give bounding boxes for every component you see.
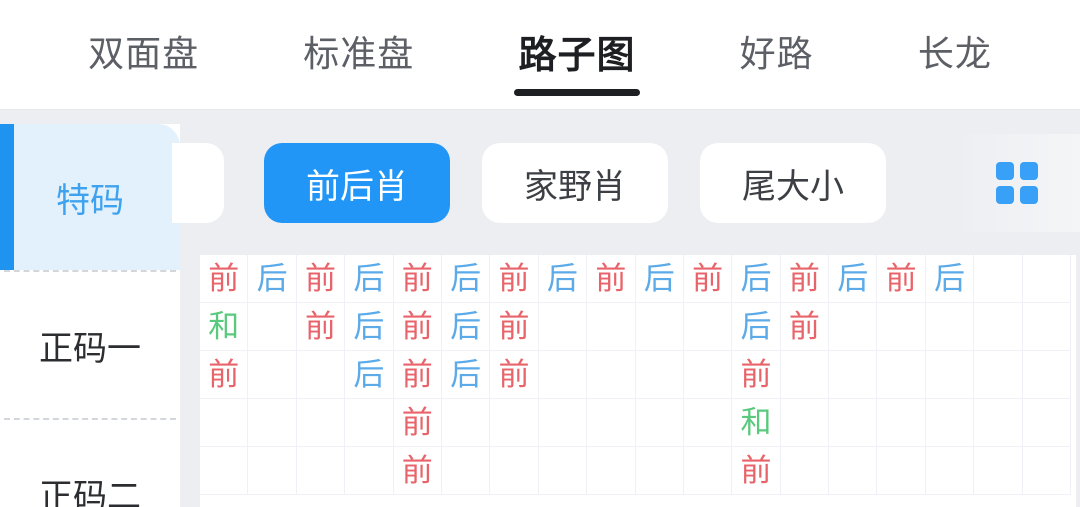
top-tab-0[interactable]: 双面盘 bbox=[82, 0, 205, 102]
roadmap-cell-filled: 前 bbox=[394, 351, 442, 399]
roadmap-cell-filled: 后 bbox=[345, 351, 393, 399]
roadmap-cell-empty bbox=[1023, 399, 1071, 447]
grid-view-button[interactable] bbox=[954, 134, 1080, 232]
top-tab-bar: 双面盘标准盘路子图好路长龙 bbox=[0, 0, 1080, 110]
roadmap-cell-empty bbox=[636, 303, 684, 351]
grid-square-3 bbox=[996, 186, 1014, 204]
roadmap-row: 前后前后前前 bbox=[200, 351, 1076, 399]
roadmap-cell-empty bbox=[490, 447, 538, 495]
roadmap-cell-empty bbox=[587, 303, 635, 351]
roadmap-cell-empty bbox=[877, 303, 925, 351]
roadmap-cell-filled: 后 bbox=[829, 255, 877, 303]
roadmap-cell-empty bbox=[926, 447, 974, 495]
roadmap-cell-empty bbox=[297, 447, 345, 495]
roadmap-cell-empty bbox=[829, 351, 877, 399]
roadmap-cell-empty bbox=[1023, 303, 1071, 351]
filter-chip-row: 前后肖家野肖尾大小 bbox=[180, 134, 1080, 232]
roadmap-cell-filled: 前 bbox=[877, 255, 925, 303]
roadmap-cell-filled: 前 bbox=[732, 447, 780, 495]
top-tab-3[interactable]: 好路 bbox=[734, 0, 820, 102]
roadmap-cell-empty bbox=[636, 351, 684, 399]
roadmap-cell-filled: 前 bbox=[297, 303, 345, 351]
roadmap-cell-empty bbox=[587, 351, 635, 399]
roadmap-row: 前前 bbox=[200, 447, 1076, 495]
roadmap-cell-empty bbox=[926, 351, 974, 399]
top-tab-2[interactable]: 路子图 bbox=[512, 0, 641, 102]
roadmap-cell-empty bbox=[442, 399, 490, 447]
roadmap-cell-empty bbox=[877, 351, 925, 399]
roadmap-cell-empty bbox=[1023, 255, 1071, 303]
roadmap-cell-empty bbox=[684, 351, 732, 399]
roadmap-cell-empty bbox=[974, 351, 1022, 399]
sidebar-item-2[interactable]: 正码二 bbox=[0, 420, 180, 507]
sidebar-top-gap bbox=[0, 110, 180, 124]
roadmap-cell-filled: 前 bbox=[394, 399, 442, 447]
roadmap-cell-filled: 后 bbox=[442, 255, 490, 303]
roadmap-cell-empty bbox=[636, 447, 684, 495]
roadmap-cell-filled: 前 bbox=[490, 351, 538, 399]
grid-square-1 bbox=[996, 162, 1014, 180]
roadmap-cell-empty bbox=[248, 399, 296, 447]
roadmap-cell-filled: 和 bbox=[732, 399, 780, 447]
roadmap-cell-empty bbox=[781, 447, 829, 495]
roadmap-cell-empty bbox=[781, 351, 829, 399]
roadmap-cell-empty bbox=[200, 399, 248, 447]
roadmap-cell-empty bbox=[829, 447, 877, 495]
roadmap-cell-empty bbox=[490, 399, 538, 447]
roadmap-cell-filled: 前 bbox=[781, 255, 829, 303]
roadmap-cell-empty bbox=[829, 303, 877, 351]
sidebar-item-label: 正码二 bbox=[39, 469, 141, 507]
roadmap-cell-filled: 后 bbox=[345, 303, 393, 351]
roadmap-cell-filled: 后 bbox=[248, 255, 296, 303]
content-panel: 前后肖家野肖尾大小 前后前后前后前后前后前后前后前后和前后前后前后前前后前后前前… bbox=[180, 110, 1080, 507]
roadmap-cell-empty bbox=[297, 351, 345, 399]
roadmap-cell-empty bbox=[248, 351, 296, 399]
roadmap-cell-filled: 前 bbox=[394, 303, 442, 351]
roadmap-grid[interactable]: 前后前后前后前后前后前后前后前后和前后前后前后前前后前后前前前和前前 bbox=[200, 255, 1076, 507]
roadmap-cell-filled: 后 bbox=[732, 255, 780, 303]
top-tab-4[interactable]: 长龙 bbox=[912, 0, 998, 102]
sidebar-active-accent bbox=[0, 124, 14, 270]
roadmap-cell-empty bbox=[781, 399, 829, 447]
filter-chip-1[interactable]: 家野肖 bbox=[482, 143, 668, 223]
filter-chip-2[interactable]: 尾大小 bbox=[700, 143, 886, 223]
roadmap-cell-empty bbox=[539, 303, 587, 351]
top-tab-1[interactable]: 标准盘 bbox=[297, 0, 420, 102]
top-tab-label: 标准盘 bbox=[303, 25, 414, 77]
roadmap-cell-filled: 和 bbox=[200, 303, 248, 351]
active-tab-underline bbox=[514, 89, 640, 96]
roadmap-row: 前和 bbox=[200, 399, 1076, 447]
sidebar-item-list: 特码正码一正码二 bbox=[0, 124, 180, 507]
filter-chip-partial[interactable] bbox=[172, 143, 224, 223]
roadmap-cell-empty bbox=[684, 447, 732, 495]
sidebar-item-label: 特码 bbox=[56, 173, 124, 222]
roadmap-cell-empty bbox=[539, 351, 587, 399]
top-tab-label: 长龙 bbox=[918, 25, 992, 77]
roadmap-cell-filled: 前 bbox=[490, 303, 538, 351]
top-tab-label: 好路 bbox=[740, 25, 814, 77]
roadmap-cell-empty bbox=[974, 447, 1022, 495]
roadmap-cell-filled: 后 bbox=[442, 351, 490, 399]
roadmap-cell-empty bbox=[200, 447, 248, 495]
roadmap-cell-filled: 后 bbox=[732, 303, 780, 351]
filter-chip-0[interactable]: 前后肖 bbox=[264, 143, 450, 223]
roadmap-cell-empty bbox=[587, 399, 635, 447]
top-tab-label: 双面盘 bbox=[88, 25, 199, 77]
roadmap-cell-empty bbox=[1023, 351, 1071, 399]
roadmap-row: 前后前后前后前后前后前后前后前后 bbox=[200, 255, 1076, 303]
roadmap-cell-empty bbox=[248, 447, 296, 495]
roadmap-cell-filled: 前 bbox=[490, 255, 538, 303]
roadmap-cell-empty bbox=[974, 399, 1022, 447]
roadmap-cell-filled: 后 bbox=[926, 255, 974, 303]
roadmap-cell-empty bbox=[684, 303, 732, 351]
app-root: 双面盘标准盘路子图好路长龙 特码正码一正码二 前后肖家野肖尾大小 前后前后前后前… bbox=[0, 0, 1080, 507]
roadmap-cell-empty bbox=[636, 399, 684, 447]
roadmap-cell-filled: 前 bbox=[394, 255, 442, 303]
sidebar: 特码正码一正码二 bbox=[0, 110, 180, 507]
filter-chip-list: 前后肖家野肖尾大小 bbox=[264, 143, 918, 223]
roadmap-cell-filled: 前 bbox=[394, 447, 442, 495]
roadmap-cell-empty bbox=[1023, 447, 1071, 495]
roadmap-cell-empty bbox=[684, 399, 732, 447]
roadmap-cell-empty bbox=[829, 399, 877, 447]
roadmap-cell-filled: 前 bbox=[200, 255, 248, 303]
roadmap-cell-filled: 后 bbox=[442, 303, 490, 351]
roadmap-cell-filled: 后 bbox=[345, 255, 393, 303]
sidebar-item-0[interactable]: 特码 bbox=[0, 124, 180, 270]
sidebar-item-1[interactable]: 正码一 bbox=[0, 272, 180, 418]
roadmap-cell-empty bbox=[974, 303, 1022, 351]
sidebar-item-label: 正码一 bbox=[39, 321, 141, 370]
roadmap-cell-filled: 后 bbox=[539, 255, 587, 303]
grid-view-icon bbox=[996, 162, 1038, 204]
roadmap-cell-filled: 前 bbox=[200, 351, 248, 399]
roadmap-cell-filled: 前 bbox=[781, 303, 829, 351]
roadmap-cell-empty bbox=[926, 399, 974, 447]
roadmap-cell-empty bbox=[539, 399, 587, 447]
roadmap-cell-empty bbox=[297, 399, 345, 447]
grid-square-2 bbox=[1020, 162, 1038, 180]
roadmap-cell-empty bbox=[345, 447, 393, 495]
roadmap-cell-empty bbox=[587, 447, 635, 495]
roadmap-cell-empty bbox=[248, 303, 296, 351]
roadmap-cell-empty bbox=[926, 303, 974, 351]
roadmap-cell-empty bbox=[974, 255, 1022, 303]
roadmap-cell-filled: 前 bbox=[684, 255, 732, 303]
roadmap-cell-filled: 前 bbox=[732, 351, 780, 399]
grid-square-4 bbox=[1020, 186, 1038, 204]
roadmap-cell-filled: 前 bbox=[297, 255, 345, 303]
roadmap-cell-filled: 前 bbox=[587, 255, 635, 303]
top-tab-list: 双面盘标准盘路子图好路长龙 bbox=[0, 0, 1080, 102]
roadmap-row: 和前后前后前后前 bbox=[200, 303, 1076, 351]
roadmap-cell-empty bbox=[539, 447, 587, 495]
roadmap-cell-filled: 后 bbox=[636, 255, 684, 303]
roadmap-cell-empty bbox=[877, 399, 925, 447]
top-tab-label: 路子图 bbox=[518, 24, 635, 79]
roadmap-cell-empty bbox=[345, 399, 393, 447]
roadmap-cell-empty bbox=[877, 447, 925, 495]
roadmap-cell-empty bbox=[442, 447, 490, 495]
